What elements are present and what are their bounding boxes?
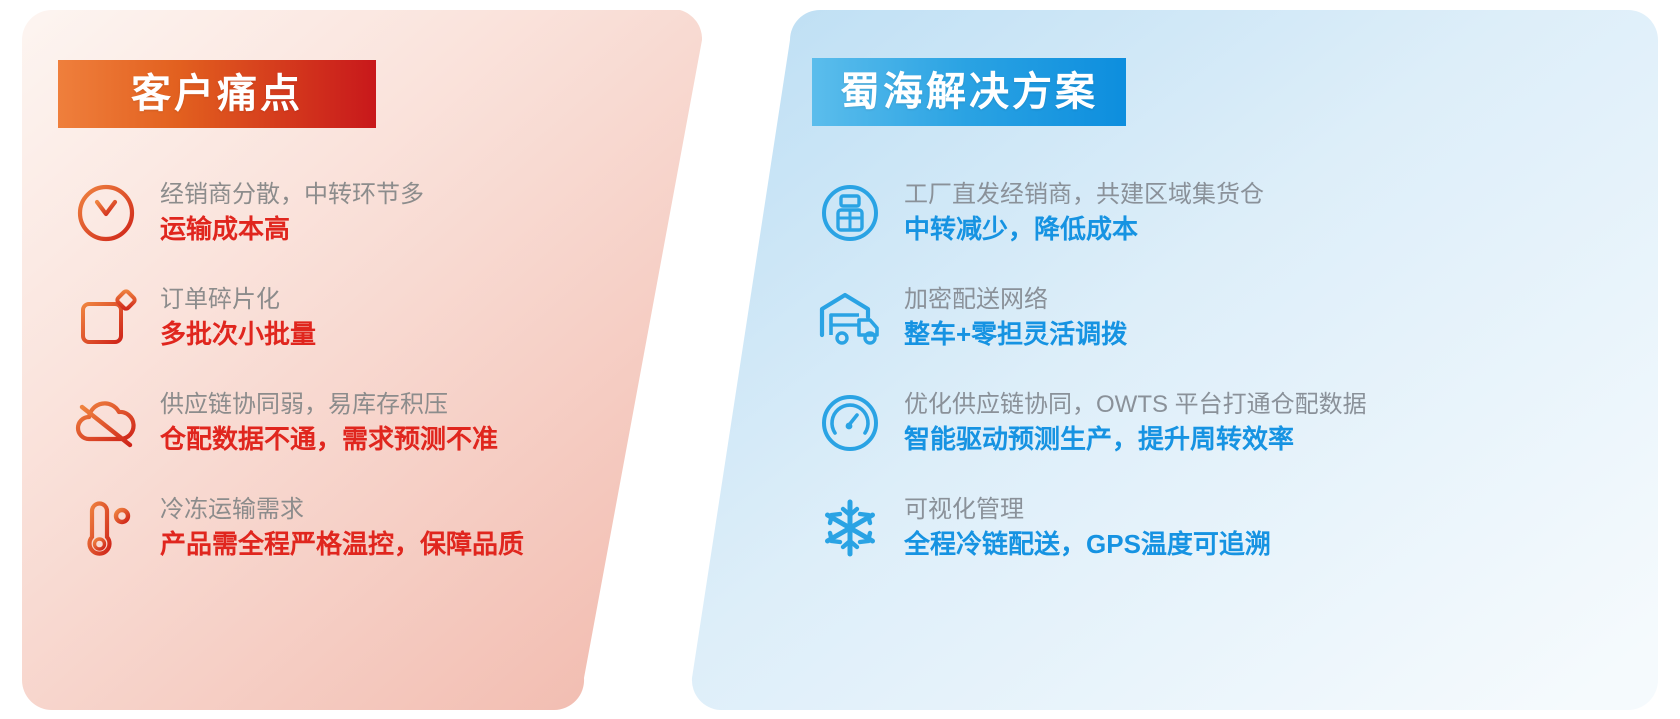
yen-circle-icon xyxy=(58,182,154,244)
pain-banner-label: 客户痛点 xyxy=(131,74,303,114)
list-item-highlight: 智能驱动预测生产，提升周转效率 xyxy=(904,422,1642,456)
list-item-text: 供应链协同弱，易库存积压 仓配数据不通，需求预测不准 xyxy=(154,389,678,457)
list-item: 订单碎片化 多批次小批量 xyxy=(58,265,678,370)
list-item-highlight: 产品需全程严格温控，保障品质 xyxy=(160,527,678,561)
list-item-highlight: 仓配数据不通，需求预测不准 xyxy=(160,422,678,456)
list-item-title: 可视化管理 xyxy=(904,494,1642,526)
list-item-title: 订单碎片化 xyxy=(160,284,678,316)
list-item-text: 优化供应链协同，OWTS 平台打通仓配数据 智能驱动预测生产，提升周转效率 xyxy=(898,389,1642,457)
list-item: 加密配送网络 整车+零担灵活调拨 xyxy=(802,265,1642,370)
solution-panel: 蜀海解决方案 工厂直发经销商，共建区域集 xyxy=(690,10,1658,710)
list-item-title: 供应链协同弱，易库存积压 xyxy=(160,389,678,421)
cloud-off-icon xyxy=(58,392,154,454)
thermometer-icon xyxy=(58,495,154,561)
save-circle-icon xyxy=(802,182,898,244)
list-item: 冷冻运输需求 产品需全程严格温控，保障品质 xyxy=(58,475,678,580)
list-item-title: 冷冻运输需求 xyxy=(160,494,678,526)
list-item-text: 可视化管理 全程冷链配送，GPS温度可追溯 xyxy=(898,494,1642,562)
infographic-canvas: 客户痛点 经销商分散，中转环节多 xyxy=(0,0,1680,719)
list-item-title: 优化供应链协同，OWTS 平台打通仓配数据 xyxy=(904,389,1642,421)
pain-banner: 客户痛点 xyxy=(58,60,376,128)
list-item-highlight: 中转减少，降低成本 xyxy=(904,212,1642,246)
list-item-highlight: 全程冷链配送，GPS温度可追溯 xyxy=(904,527,1642,561)
grid-fragment-icon xyxy=(58,287,154,349)
list-item-highlight: 多批次小批量 xyxy=(160,317,678,351)
list-item-highlight: 整车+零担灵活调拨 xyxy=(904,317,1642,351)
list-item-title: 经销商分散，中转环节多 xyxy=(160,179,678,211)
warehouse-truck-icon xyxy=(802,287,898,349)
list-item: 供应链协同弱，易库存积压 仓配数据不通，需求预测不准 xyxy=(58,370,678,475)
list-item: 优化供应链协同，OWTS 平台打通仓配数据 智能驱动预测生产，提升周转效率 xyxy=(802,370,1642,475)
list-item-text: 工厂直发经销商，共建区域集货仓 中转减少，降低成本 xyxy=(898,179,1642,247)
list-item-text: 冷冻运输需求 产品需全程严格温控，保障品质 xyxy=(154,494,678,562)
list-item-title: 工厂直发经销商，共建区域集货仓 xyxy=(904,179,1642,211)
pain-points-panel: 客户痛点 经销商分散，中转环节多 xyxy=(22,10,702,710)
list-item: 工厂直发经销商，共建区域集货仓 中转减少，降低成本 xyxy=(802,160,1642,265)
solution-banner-label: 蜀海解决方案 xyxy=(840,72,1098,112)
list-item-highlight: 运输成本高 xyxy=(160,212,678,246)
solution-banner: 蜀海解决方案 xyxy=(812,58,1126,126)
list-item-text: 加密配送网络 整车+零担灵活调拨 xyxy=(898,284,1642,352)
list-item: 可视化管理 全程冷链配送，GPS温度可追溯 xyxy=(802,475,1642,580)
snowflake-icon xyxy=(802,496,898,560)
speedometer-icon xyxy=(802,392,898,454)
list-item-text: 经销商分散，中转环节多 运输成本高 xyxy=(154,179,678,247)
pain-rows-list: 经销商分散，中转环节多 运输成本高 xyxy=(58,160,678,580)
list-item-text: 订单碎片化 多批次小批量 xyxy=(154,284,678,352)
list-item: 经销商分散，中转环节多 运输成本高 xyxy=(58,160,678,265)
solution-rows-list: 工厂直发经销商，共建区域集货仓 中转减少，降低成本 xyxy=(802,160,1642,580)
list-item-title: 加密配送网络 xyxy=(904,284,1642,316)
